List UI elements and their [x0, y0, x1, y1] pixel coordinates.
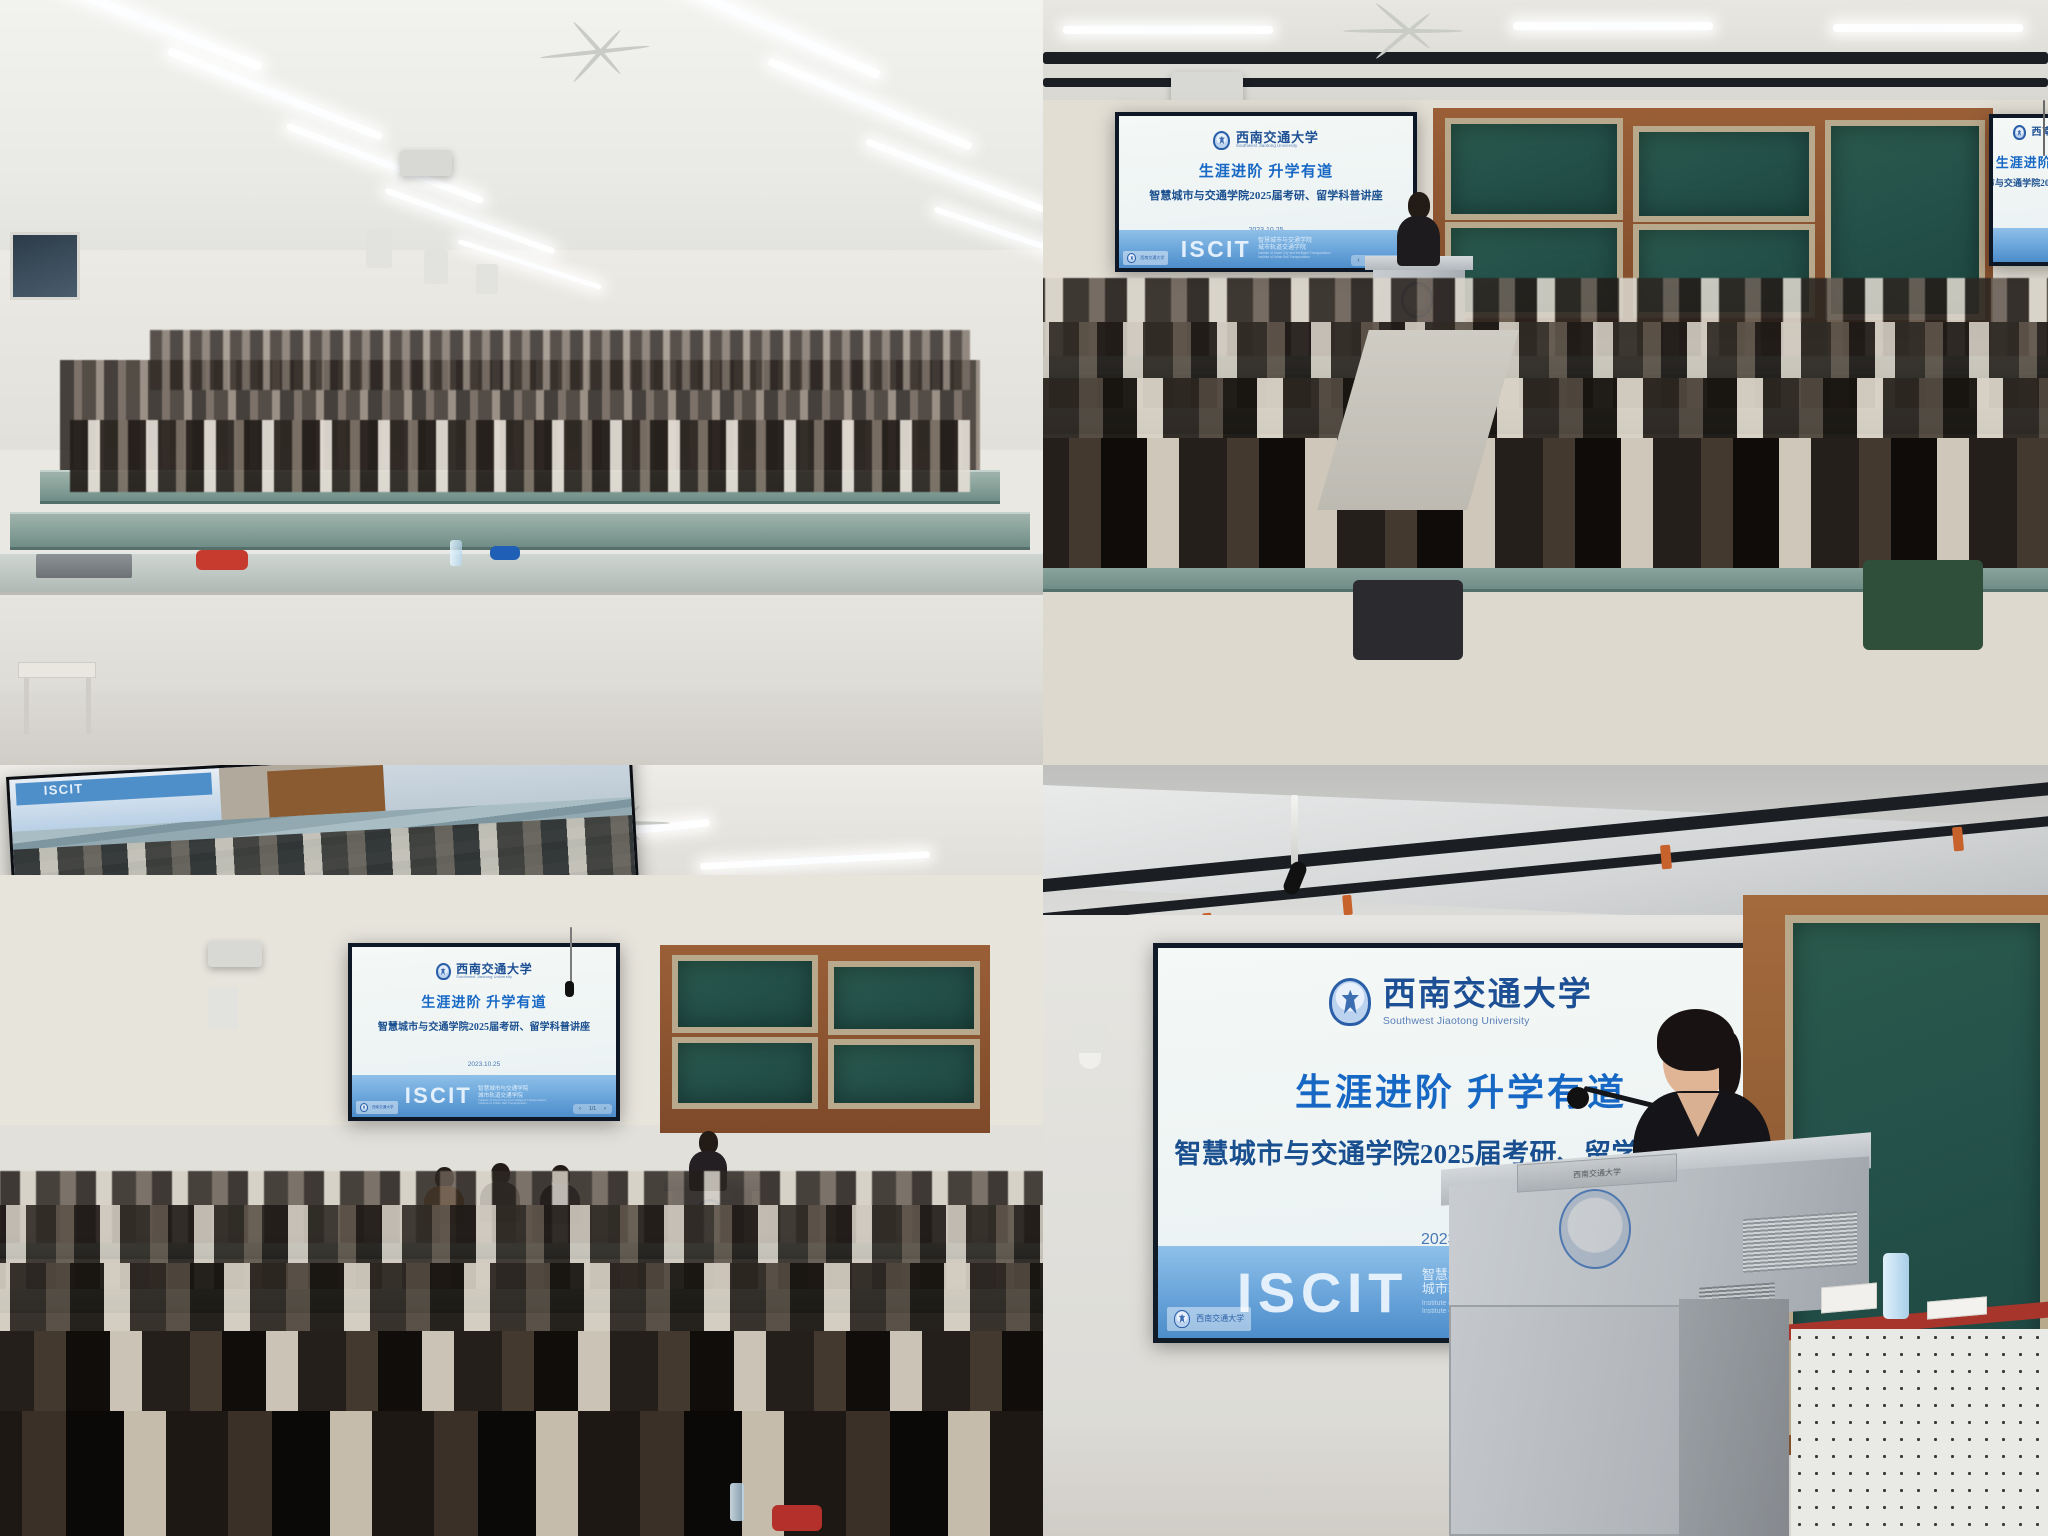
slide-title-secondary: 生涯进阶 升学有道: [1996, 152, 2048, 171]
slide-subtitle: 智慧城市与交通学院2025届考研、留学科普讲座: [378, 1018, 590, 1033]
desk-row: [10, 512, 1030, 550]
blackboard: [1633, 126, 1815, 222]
desk-surface: [0, 552, 1043, 594]
blackboard: [828, 961, 980, 1035]
university-crest-icon: [436, 963, 451, 980]
slide-seal-strip: 西南交通大学: [1167, 1307, 1251, 1331]
university-crest-icon: [1329, 978, 1371, 1026]
floor: [0, 690, 1043, 765]
institute-name-en-2: Institute of Urban Rail Transportation: [478, 1102, 546, 1105]
ceiling-light: [1513, 22, 1713, 30]
wall-camera: [1073, 1023, 1107, 1053]
seal-crest-icon: [1174, 1310, 1190, 1328]
university-logo: 西南交通大学 Southwest Jiaotong University: [1213, 131, 1318, 150]
perforated-panel: [1791, 1329, 2048, 1536]
seal-text: 西南交通大学: [1196, 1313, 1244, 1324]
blackboard: [828, 1039, 980, 1109]
institute-acronym: ISCIT: [405, 1083, 472, 1109]
hanging-microphone-stem: [1291, 795, 1298, 865]
university-name-en: Southwest Jiaotong University: [1236, 144, 1319, 148]
institute-acronym: ISCIT: [1237, 1260, 1408, 1325]
ceiling-fan: [540, 40, 650, 66]
slide-title: 生涯进阶 升学有道: [1199, 160, 1334, 181]
presentation-slide: 西南交通大学 Southwest Jiaotong University 生涯进…: [352, 947, 616, 1117]
pipe-clamp: [1660, 845, 1672, 870]
red-folder: [772, 1505, 822, 1531]
slide-page-indicator: 1/1: [589, 1106, 596, 1112]
backpack: [1863, 560, 1983, 650]
seal-crest-icon: [1127, 253, 1136, 263]
window: [10, 232, 80, 300]
photo-collage-grid: 西南交通大学 Southwest Jiaotong University 生涯进…: [0, 0, 2048, 1536]
slide-date: 2023.10.25: [468, 1061, 501, 1068]
projector-screen-left: 西南交通大学 Southwest Jiaotong University 生涯进…: [1115, 112, 1417, 272]
slide-nav-controls[interactable]: ‹ 1/1 ›: [573, 1104, 612, 1114]
university-crest-icon: [1213, 131, 1230, 150]
audience-row-nearest: [1043, 438, 2048, 568]
university-name-en: Southwest Jiaotong University: [1383, 1016, 1593, 1027]
seal-crest-icon: [360, 1103, 368, 1112]
university-logo: 西南交通大学 Southwest Jiaotong University: [1329, 978, 1592, 1026]
audience-near-block: [70, 420, 970, 492]
podium-lower-door: [1449, 1305, 1685, 1536]
ceiling-fan: [1343, 20, 1463, 42]
next-slide-button[interactable]: ›: [604, 1106, 606, 1112]
slide-footer-band-secondary: ISCIT: [1993, 228, 2048, 262]
water-bottle: [450, 540, 462, 566]
stool-leg: [86, 678, 91, 734]
chalk-box: [1821, 1283, 1877, 1314]
panel-hall-rear-view-with-monitor: ISCIT 西南交通大学 Southwest Jiaotong Universi…: [0, 765, 1043, 1536]
speaker-box: [366, 230, 392, 268]
hanging-microphone: [565, 981, 574, 997]
podium-nameplate-text: 西南交通大学: [1573, 1166, 1621, 1180]
seal-text: 西南交通大学: [372, 1105, 394, 1110]
ceiling-light: [1063, 26, 1273, 34]
audience-foreground: [0, 1411, 1043, 1536]
microphone-cable: [2043, 100, 2045, 156]
presentation-slide: 西南交通大学 Southwest Jiaotong University 生涯进…: [1119, 116, 1413, 268]
speaker-box: [476, 264, 498, 294]
university-name-cn: 西南交通大学: [1383, 979, 1593, 1012]
ceiling-pipe: [1043, 52, 2048, 64]
university-logo: 西南交通大学 Southwest Jiaotong University: [436, 963, 533, 980]
blackboard: [1445, 118, 1623, 220]
slide-footer-band: ISCIT 智慧城市与交通学院 城市轨道交通学院 Institute of Sm…: [352, 1075, 616, 1117]
audience-far-block: [150, 330, 970, 390]
seal-text: 西南交通大学: [1140, 255, 1164, 261]
prev-slide-button[interactable]: ‹: [1357, 257, 1359, 264]
podium-microphone-head: [1567, 1087, 1589, 1109]
projector-screen: 西南交通大学 Southwest Jiaotong University 生涯进…: [348, 943, 620, 1121]
floor: [1043, 1425, 1449, 1536]
hanging-microphone-cable: [570, 927, 572, 983]
laptop: [36, 554, 132, 578]
podium-university-seal: [1559, 1189, 1631, 1269]
wall-speaker: [208, 987, 238, 1029]
pipe-clamp: [1952, 827, 1964, 852]
pipe-clamp: [1342, 895, 1353, 916]
stool-leg: [24, 678, 29, 734]
water-bottle: [1883, 1253, 1909, 1319]
monitor-iscit-label: ISCIT: [43, 781, 84, 798]
water-bottle: [730, 1483, 744, 1521]
slide-title: 生涯进阶 升学有道: [421, 992, 547, 1012]
projector: [208, 941, 262, 967]
slide-seal-strip: 西南交通大学: [356, 1101, 398, 1114]
university-name-cn-secondary: 西南交通大学: [2031, 128, 2048, 138]
speaker-body: [1397, 216, 1440, 266]
projector-screen-right: 西南交通大学 生涯进阶 升学有道 智慧城市与交通学院2025届考研、留学科普讲座…: [1989, 114, 2048, 266]
university-crest-icon: [2013, 125, 2026, 140]
podium-vent: [1743, 1211, 1857, 1273]
institute-acronym: ISCIT: [1181, 236, 1251, 263]
speaker: [1395, 192, 1441, 264]
slide-seal-strip: 西南交通大学: [1123, 251, 1168, 265]
podium-lower-body: [1679, 1299, 1789, 1536]
institute-name-en-2: Institute of Urban Rail Transportation: [1258, 256, 1330, 260]
slide-subtitle-secondary: 智慧城市与交通学院2025届考研、留学科普讲座: [1993, 176, 2048, 189]
panel-audience-and-screen-view: 西南交通大学 Southwest Jiaotong University 生涯进…: [1043, 0, 2048, 765]
speaker-box: [424, 250, 448, 284]
presenter-hair-side: [1719, 1033, 1741, 1095]
prev-slide-button[interactable]: ‹: [579, 1106, 581, 1112]
panel-speaker-closeup-at-podium: 西南交通大学 Southwest Jiaotong University 生涯进…: [1043, 765, 2048, 1536]
backpack: [1353, 580, 1463, 660]
projector: [400, 150, 452, 176]
stool: [18, 662, 96, 678]
slide-subtitle: 智慧城市与交通学院2025届考研、留学科普讲座: [1149, 187, 1383, 203]
red-bag: [196, 550, 248, 570]
blue-item: [490, 546, 520, 560]
blackboard: [672, 955, 818, 1033]
panel-lecture-hall-wide-view: [0, 0, 1043, 765]
blackboard: [672, 1037, 818, 1109]
ceiling-light: [1833, 24, 2023, 32]
presentation-slide-secondary: 西南交通大学 生涯进阶 升学有道 智慧城市与交通学院2025届考研、留学科普讲座…: [1993, 118, 2048, 262]
speaker-head: [1408, 192, 1430, 219]
